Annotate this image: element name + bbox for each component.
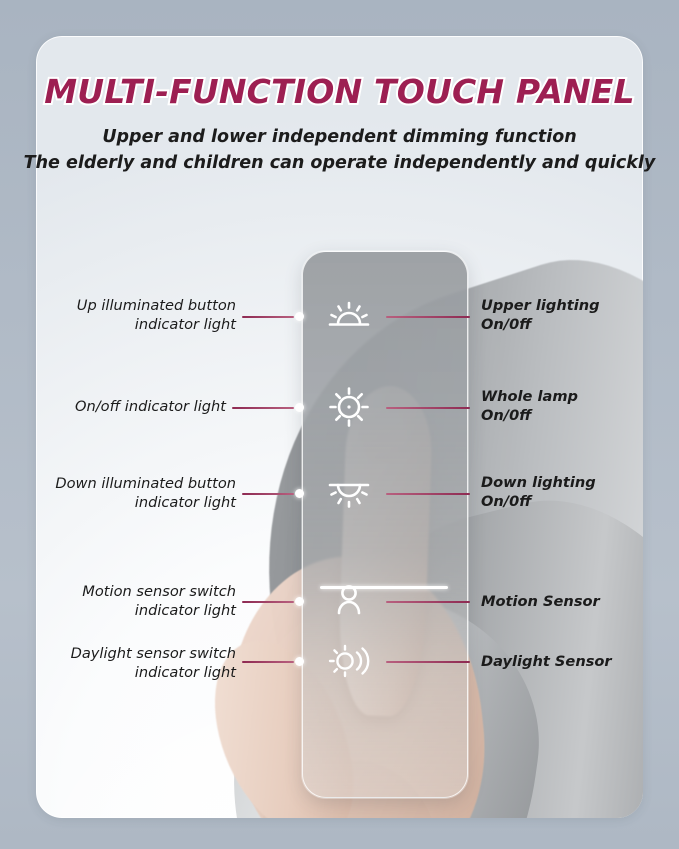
callout-right-upper-lighting-line-2: On/0ff bbox=[481, 315, 679, 334]
callout-left-motion-sensor: Motion sensor switch indicator light bbox=[0, 582, 236, 620]
callout-right-whole-lamp: Whole lamp On/0ff bbox=[481, 387, 679, 425]
leader-line-right-daylight-sensor bbox=[386, 661, 470, 663]
callout-left-upper-lighting: Up illuminated button indicator light bbox=[0, 296, 236, 334]
callout-right-upper-lighting: Upper lighting On/0ff bbox=[481, 296, 679, 334]
leader-line-right-whole-lamp bbox=[386, 407, 470, 409]
callout-right-whole-lamp-line-2: On/0ff bbox=[481, 406, 679, 425]
indicator-dot-motion-sensor[interactable] bbox=[295, 597, 304, 606]
callout-right-motion-sensor: Motion Sensor bbox=[481, 592, 679, 611]
leader-line-left-whole-lamp bbox=[232, 407, 294, 409]
half-sun-up-icon[interactable] bbox=[321, 294, 377, 338]
callout-left-daylight-sensor-line-1: Daylight sensor switch bbox=[0, 644, 236, 663]
callout-right-down-lighting: Down lighting On/0ff bbox=[481, 473, 679, 511]
callout-left-down-lighting-line-1: Down illuminated button bbox=[0, 474, 236, 493]
product-infographic: MULTI-FUNCTION TOUCH PANEL Upper and low… bbox=[0, 0, 679, 849]
leader-line-right-upper-lighting bbox=[386, 316, 470, 318]
callout-right-motion-sensor-line-1: Motion Sensor bbox=[481, 592, 679, 611]
leader-line-left-motion-sensor bbox=[242, 601, 294, 603]
callout-left-upper-lighting-line-2: indicator light bbox=[0, 315, 236, 334]
subtitle-line-1: Upper and lower independent dimming func… bbox=[0, 124, 679, 150]
sun-waves-icon[interactable] bbox=[321, 639, 377, 683]
subtitle-line-2: The elderly and children can operate ind… bbox=[0, 150, 679, 176]
leader-line-left-down-lighting bbox=[242, 493, 294, 495]
callout-right-down-lighting-line-1: Down lighting bbox=[481, 473, 679, 492]
callout-left-motion-sensor-line-1: Motion sensor switch bbox=[0, 582, 236, 601]
callout-left-down-lighting-line-2: indicator light bbox=[0, 493, 236, 512]
leader-line-left-upper-lighting bbox=[242, 316, 294, 318]
page-subtitle: Upper and lower independent dimming func… bbox=[0, 124, 679, 176]
callout-left-down-lighting: Down illuminated button indicator light bbox=[0, 474, 236, 512]
callout-right-daylight-sensor-line-1: Daylight Sensor bbox=[481, 652, 679, 671]
indicator-dot-whole-lamp[interactable] bbox=[295, 403, 304, 412]
page-title: MULTI-FUNCTION TOUCH PANEL bbox=[0, 72, 679, 111]
leader-line-right-motion-sensor bbox=[386, 601, 470, 603]
callout-left-whole-lamp-line-1: On/off indicator light bbox=[0, 397, 226, 416]
callout-left-motion-sensor-line-2: indicator light bbox=[0, 601, 236, 620]
callout-right-upper-lighting-line-1: Upper lighting bbox=[481, 296, 679, 315]
callout-right-daylight-sensor: Daylight Sensor bbox=[481, 652, 679, 671]
indicator-dot-upper-lighting[interactable] bbox=[295, 312, 304, 321]
leader-line-right-down-lighting bbox=[386, 493, 470, 495]
callout-left-daylight-sensor-line-2: indicator light bbox=[0, 663, 236, 682]
callout-left-whole-lamp: On/off indicator light bbox=[0, 397, 226, 416]
person-icon[interactable] bbox=[321, 579, 377, 623]
callout-left-upper-lighting-line-1: Up illuminated button bbox=[0, 296, 236, 315]
leader-line-left-daylight-sensor bbox=[242, 661, 294, 663]
indicator-dot-daylight-sensor[interactable] bbox=[295, 657, 304, 666]
half-sun-down-icon[interactable] bbox=[321, 471, 377, 515]
callout-left-daylight-sensor: Daylight sensor switch indicator light bbox=[0, 644, 236, 682]
callout-right-down-lighting-line-2: On/0ff bbox=[481, 492, 679, 511]
callout-right-whole-lamp-line-1: Whole lamp bbox=[481, 387, 679, 406]
full-sun-icon[interactable] bbox=[321, 385, 377, 429]
indicator-dot-down-lighting[interactable] bbox=[295, 489, 304, 498]
